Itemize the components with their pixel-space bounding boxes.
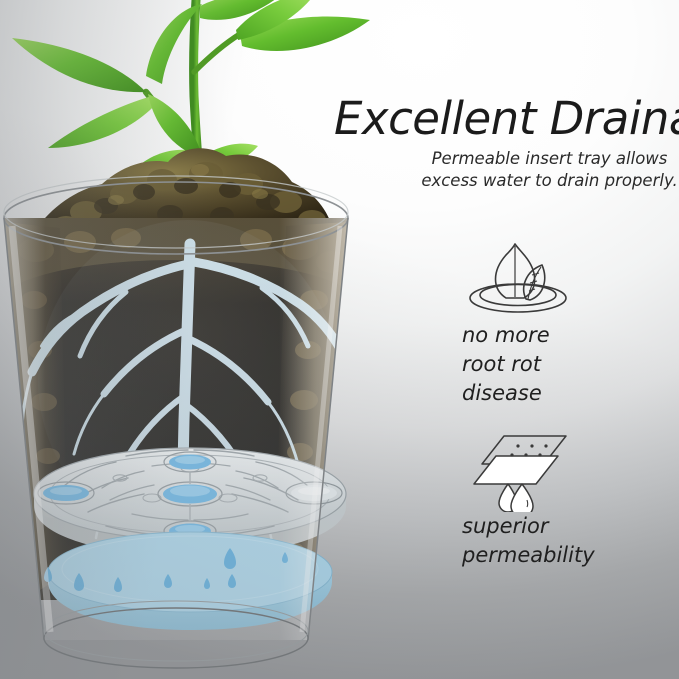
feature-label-superior-permeability: superior permeability (462, 512, 595, 570)
leaf-on-saucer-icon (462, 243, 582, 319)
perforated-sheets-droplets-icon (470, 430, 595, 512)
transparent-pot (4, 176, 348, 668)
plant-branch-right (194, 34, 240, 72)
product-marketing-scene: Excellent Drainage Permeable insert tray… (0, 0, 679, 679)
leaf (48, 96, 156, 148)
page-title: Excellent Drainage (334, 96, 679, 141)
feature-superior-permeability: superior permeability (470, 430, 595, 516)
feature-no-root-rot: no more root rot disease (462, 243, 582, 323)
subtitle: Permeable insert tray allows excess wate… (420, 148, 679, 192)
leaf (12, 38, 146, 92)
subtitle-line-2: excess water to drain properly. (420, 170, 679, 192)
feature-label-no-root-rot: no more root rot disease (462, 321, 582, 408)
subtitle-line-1: Permeable insert tray allows (420, 148, 679, 170)
